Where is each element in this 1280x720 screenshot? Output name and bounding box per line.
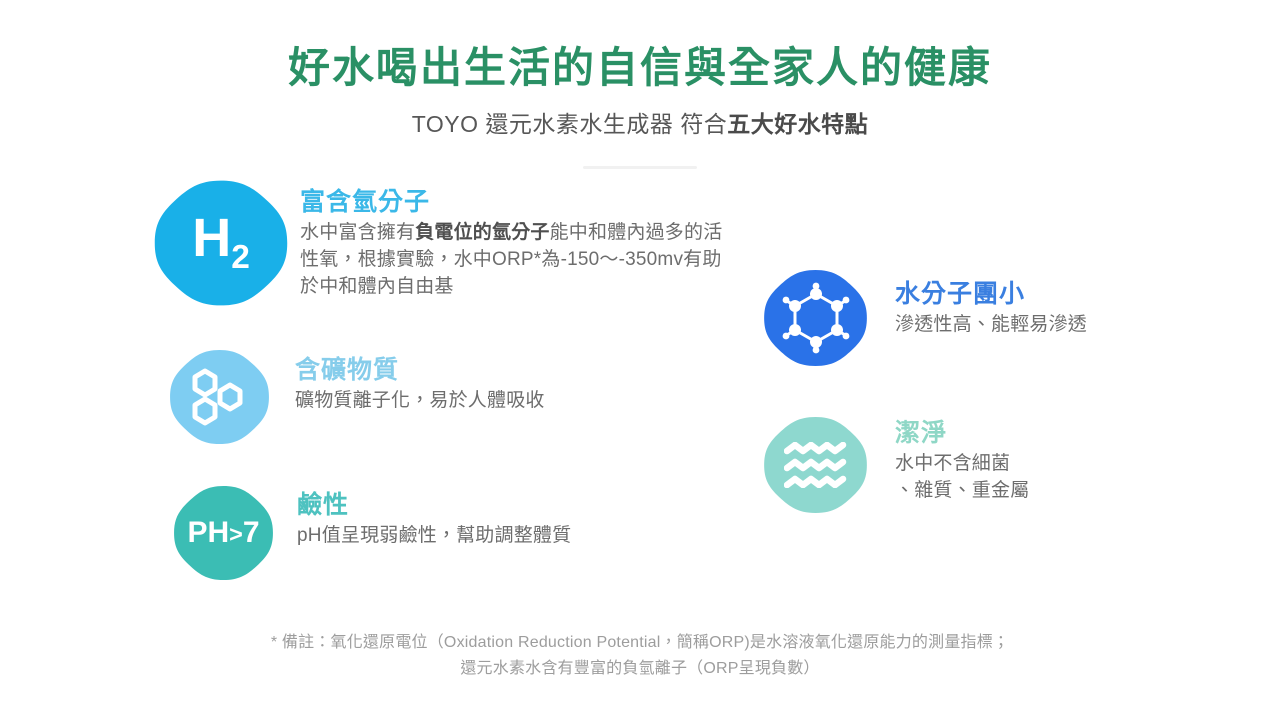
ph-label: PH>7 (187, 518, 259, 548)
h2-molecule-icon: H2 (152, 178, 290, 308)
molecule-glyph-group (762, 268, 869, 368)
feature-mineral-title: 含礦物質 (295, 356, 615, 385)
feature-hydrogen-body: 水中富含擁有負電位的氫分子能中和體內過多的活性氧，根據實驗，水中ORP*為-15… (300, 220, 730, 301)
hexagon-cluster-icon (168, 348, 271, 446)
feature-cluster: 水分子團小 滲透性高、能輕易滲透 (762, 268, 1195, 368)
feature-alkaline-text: 鹼性 pH值呈現弱鹼性，幫助調整體質 (275, 484, 617, 550)
hexagon-glyph-group (168, 348, 271, 446)
feature-cluster-text: 水分子團小 滲透性高、能輕易滲透 (869, 268, 1195, 339)
feature-clean-title: 潔淨 (895, 419, 1195, 448)
page-subtitle: TOYO 還元水素水生成器 符合五大好水特點 (0, 105, 1280, 139)
feature-mineral: 含礦物質 礦物質離子化，易於人體吸收 (168, 348, 615, 446)
header-divider (583, 166, 697, 169)
hexagons-glyph (189, 368, 251, 426)
header: 好水喝出生活的自信與全家人的健康 TOYO 還元水素水生成器 符合五大好水特點 (0, 44, 1280, 139)
feature-alkaline-title: 鹼性 (297, 491, 617, 520)
page-title: 好水喝出生活的自信與全家人的健康 (0, 44, 1280, 91)
feature-alkaline: PH>7 鹼性 pH值呈現弱鹼性，幫助調整體質 (172, 484, 617, 582)
subtitle-prefix: TOYO 還元水素水生成器 符合 (412, 111, 728, 137)
waves-glyph (784, 442, 848, 488)
feature-cluster-title: 水分子團小 (895, 280, 1195, 309)
feature-mineral-body: 礦物質離子化，易於人體吸收 (295, 388, 615, 415)
ph-label-group: PH>7 (172, 484, 275, 582)
water-waves-icon (762, 415, 869, 515)
feature-clean-body: 水中不含細菌、雜質、重金屬 (895, 451, 1195, 505)
footnote-line-1: * 備註：氧化還原電位（Oxidation Reduction Potentia… (0, 630, 1280, 656)
feature-clean-body-line2: 、雜質、重金屬 (895, 480, 1029, 501)
waves-glyph-group (762, 415, 869, 515)
feature-clean-body-line1: 水中不含細菌 (895, 453, 1010, 474)
feature-alkaline-body: pH值呈現弱鹼性，幫助調整體質 (297, 523, 617, 550)
feature-clean-text: 潔淨 水中不含細菌、雜質、重金屬 (869, 415, 1195, 505)
feature-hydrogen-body-emphasis: 負電位的氫分子 (415, 222, 549, 243)
ph-level-icon: PH>7 (172, 484, 275, 582)
h2-label: H2 (192, 211, 250, 274)
feature-hydrogen-text: 富含氫分子 水中富含擁有負電位的氫分子能中和體內過多的活性氧，根據實驗，水中OR… (290, 178, 730, 301)
footnote-line-2: 還元水素水含有豐富的負氫離子（ORP呈現負數） (0, 656, 1280, 682)
feature-hydrogen-title: 富含氫分子 (300, 188, 730, 217)
feature-mineral-text: 含礦物質 礦物質離子化，易於人體吸收 (271, 348, 615, 415)
molecule-ring-glyph (780, 282, 852, 354)
subtitle-emphasis: 五大好水特點 (727, 111, 868, 137)
feature-clean: 潔淨 水中不含細菌、雜質、重金屬 (762, 415, 1195, 515)
feature-cluster-body: 滲透性高、能輕易滲透 (895, 312, 1195, 339)
water-cluster-ring-icon (762, 268, 869, 368)
h2-label-group: H2 (152, 178, 290, 308)
feature-hydrogen: H2 富含氫分子 水中富含擁有負電位的氫分子能中和體內過多的活性氧，根據實驗，水… (152, 178, 730, 308)
footnote: * 備註：氧化還原電位（Oxidation Reduction Potentia… (0, 630, 1280, 681)
infographic-slide: 好水喝出生活的自信與全家人的健康 TOYO 還元水素水生成器 符合五大好水特點 … (0, 0, 1280, 720)
